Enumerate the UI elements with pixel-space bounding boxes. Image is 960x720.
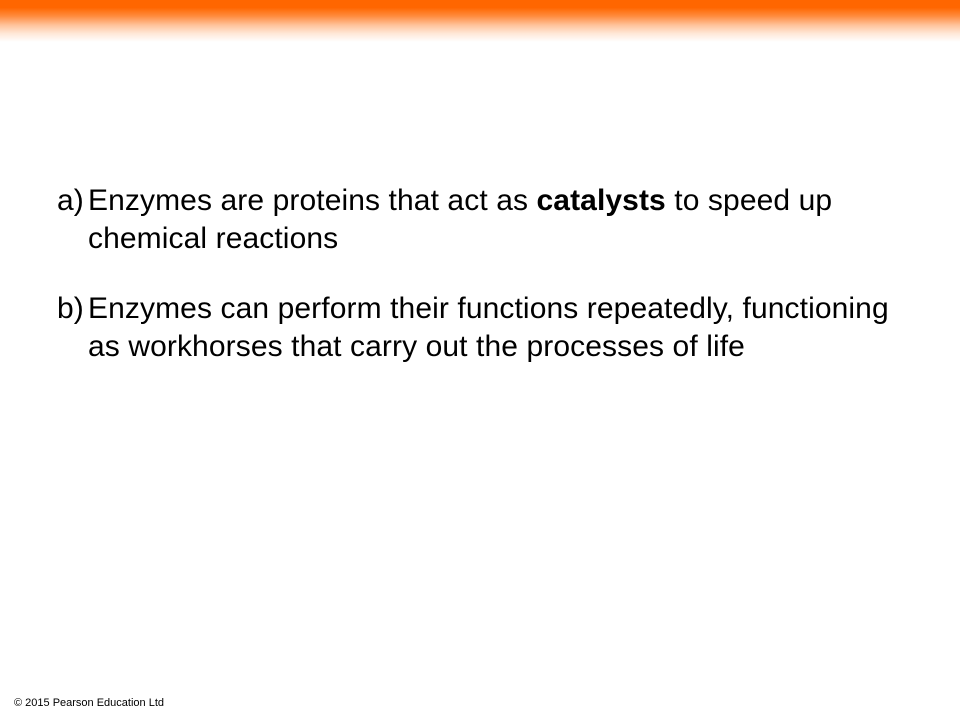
list-item-text-b: Enzymes can perform their functions repe… bbox=[88, 290, 917, 366]
top-orange-banner bbox=[0, 0, 960, 42]
list-item-marker-b: b) bbox=[57, 290, 88, 328]
list-item-text-a-part1: Enzymes are proteins that act as bbox=[88, 184, 537, 217]
footer-copyright: © 2015 Pearson Education Ltd bbox=[14, 697, 164, 710]
slide-body-content: a) Enzymes are proteins that act as cata… bbox=[57, 182, 917, 366]
slide-canvas: a) Enzymes are proteins that act as cata… bbox=[0, 0, 960, 720]
list-item: b) Enzymes can perform their functions r… bbox=[57, 290, 917, 366]
list-item-text-a: Enzymes are proteins that act as catalys… bbox=[88, 182, 917, 258]
list-item-text-a-bold: catalysts bbox=[537, 184, 666, 217]
list-item: a) Enzymes are proteins that act as cata… bbox=[57, 182, 917, 258]
list-item-marker-a: a) bbox=[57, 182, 88, 220]
